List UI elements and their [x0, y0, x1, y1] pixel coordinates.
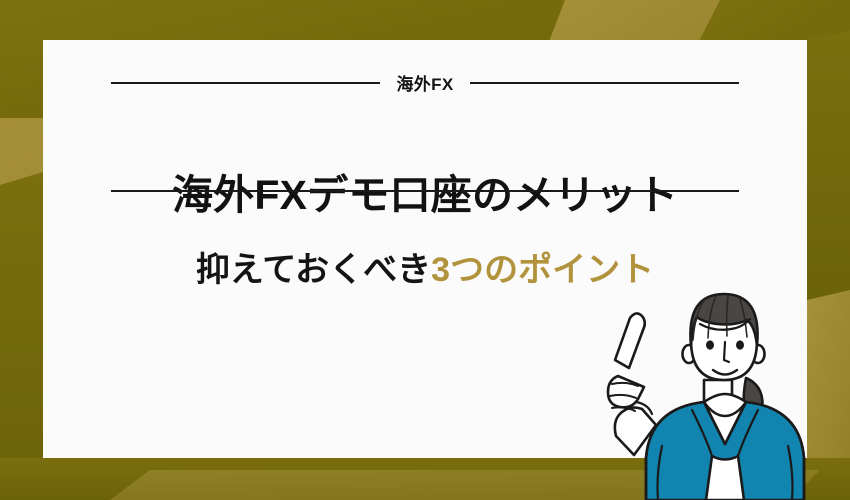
eyebrow-row: 海外FX [43, 70, 807, 95]
title-divider [111, 190, 739, 192]
eyebrow-rule-left [111, 82, 380, 84]
business-woman-pointing-up-illustration [600, 280, 850, 500]
thumbnail-canvas: 海外FX 海外FXデモ口座のメリット 抑えておくべき3つのポイント [0, 0, 850, 500]
eyebrow-label: 海外FX [396, 70, 453, 95]
subtitle-plain-text: 抑えておくべき [196, 251, 431, 289]
eyebrow-rule-right [470, 82, 739, 84]
page-title: 海外FXデモ口座のメリット [43, 171, 807, 219]
